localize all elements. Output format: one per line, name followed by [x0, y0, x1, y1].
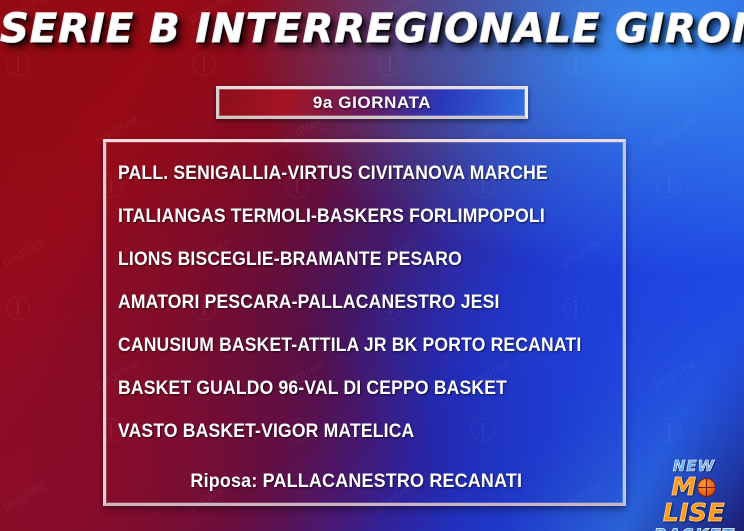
fixture-label: VASTO BASKET-VIGOR MATELICA [118, 420, 414, 443]
logo-molise-suffix: LISE [663, 498, 725, 527]
presentation-slide: pngtreepngtreepngtreepngtreepngtreepngtr… [0, 0, 744, 531]
watermark-mark-icon [657, 418, 681, 442]
page-title: SERIE B INTERREGIONALE GIRONE D [0, 6, 744, 52]
logo-line-basket: BASKET [648, 528, 740, 531]
fixture-row: VASTO BASKET-VIGOR MATELICA [118, 410, 623, 453]
fixture-row: ITALIANGAS TERMOLI-BASKERS FORLIMPOPOLI [118, 195, 623, 238]
fixture-label: AMATORI PESCARA-PALLACANESTRO JESI [118, 291, 500, 314]
watermark-mark-icon [564, 52, 588, 76]
bye-row: Riposa: PALLACANESTRO RECANATI [118, 459, 623, 503]
fixture-label: LIONS BISCEGLIE-BRAMANTE PESARO [118, 248, 462, 271]
fixtures-panel: PALL. SENIGALLIA-VIRTUS CIVITANOVA MARCH… [103, 139, 626, 506]
matchday-label: 9a GIORNATA [313, 93, 431, 113]
fixture-label: CANUSIUM BASKET-ATTILA JR BK PORTO RECAN… [118, 334, 581, 357]
fixture-label: ITALIANGAS TERMOLI-BASKERS FORLIMPOPOLI [118, 205, 545, 228]
watermark-mark-icon [657, 174, 681, 198]
bye-label: Riposa: PALLACANESTRO RECANATI [191, 470, 523, 493]
fixture-row: AMATORI PESCARA-PALLACANESTRO JESI [118, 281, 623, 324]
logo-line-molise: MLISE [648, 474, 740, 527]
watermark-text: pngtree [650, 111, 699, 148]
fixture-row: BASKET GUALDO 96-VAL DI CEPPO BASKET [118, 367, 623, 410]
fixture-label: PALL. SENIGALLIA-VIRTUS CIVITANOVA MARCH… [118, 162, 548, 185]
new-molise-basket-logo: NEW MLISE BASKET [648, 459, 740, 525]
watermark-text: pngtree [0, 233, 48, 270]
fixture-row: LIONS BISCEGLIE-BRAMANTE PESARO [118, 238, 623, 281]
fixture-label: BASKET GUALDO 96-VAL DI CEPPO BASKET [118, 377, 507, 400]
logo-molise-prefix: M [671, 472, 696, 501]
watermark-text: pngtree [650, 355, 699, 392]
watermark-mark-icon [6, 296, 30, 320]
watermark-mark-icon [192, 52, 216, 76]
watermark-mark-icon [6, 52, 30, 76]
basketball-icon [697, 478, 716, 497]
watermark-mark-icon [378, 52, 402, 76]
matchday-banner: 9a GIORNATA [216, 86, 528, 119]
fixture-row: PALL. SENIGALLIA-VIRTUS CIVITANOVA MARCH… [118, 152, 623, 195]
fixture-row: CANUSIUM BASKET-ATTILA JR BK PORTO RECAN… [118, 324, 623, 367]
watermark-text: pngtree [0, 477, 48, 514]
